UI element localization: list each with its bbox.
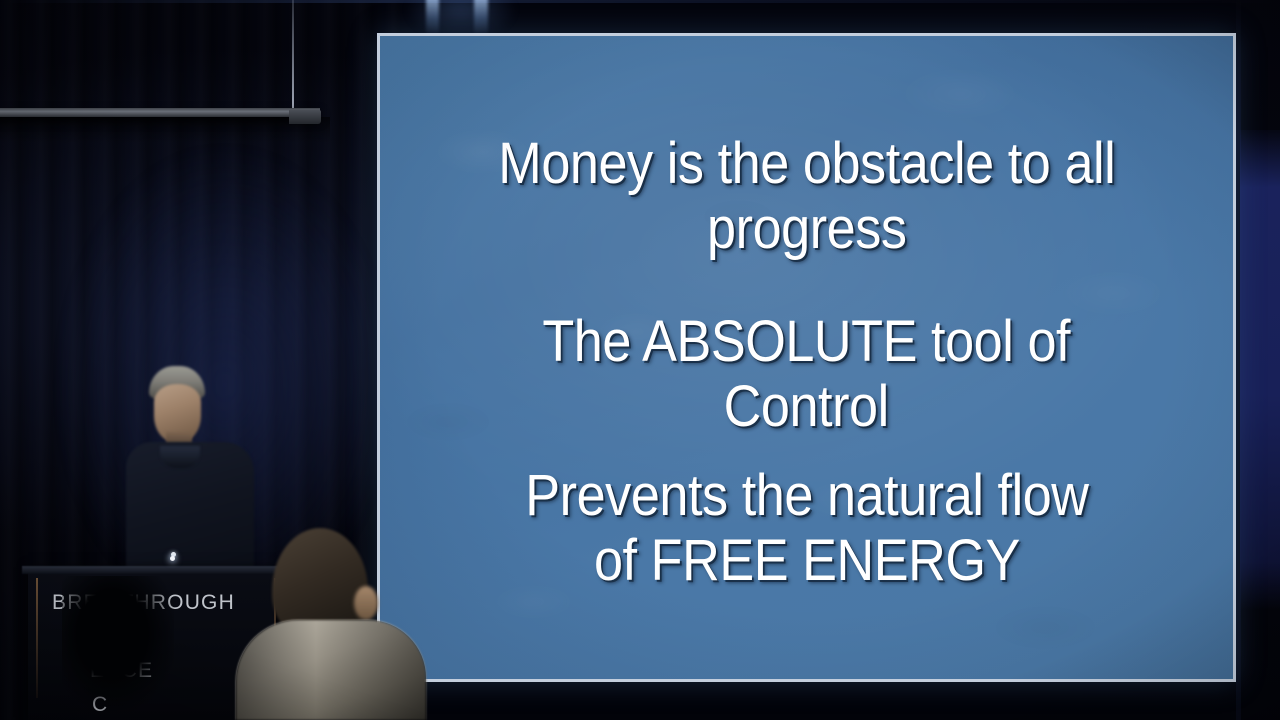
lectern-sign-rule-left bbox=[36, 578, 38, 698]
audience-member bbox=[236, 528, 426, 720]
right-curtain-panel bbox=[1240, 130, 1280, 610]
lighting-rig-bar-end bbox=[289, 110, 321, 124]
audience-shoulders-shading bbox=[236, 620, 426, 720]
lectern-indicator-light-icon bbox=[170, 556, 175, 561]
slide-line: Prevents the natural flow bbox=[525, 464, 1088, 529]
slide-line: Control bbox=[543, 375, 1071, 440]
slide-block-tool-of-control: The ABSOLUTE tool of Control bbox=[513, 310, 1099, 440]
slide-line: of FREE ENERGY bbox=[525, 529, 1088, 594]
slide-line: progress bbox=[498, 197, 1115, 262]
slide-block-statement: Money is the obstacle to all progress bbox=[464, 132, 1150, 262]
light-beam-icon bbox=[474, 0, 488, 36]
slide-line: Money is the obstacle to all bbox=[498, 132, 1115, 197]
slide-line: The ABSOLUTE tool of bbox=[543, 310, 1071, 375]
ceiling-light-strip bbox=[0, 0, 1280, 3]
lighting-rig-shadow bbox=[0, 117, 330, 143]
lighting-rig-bar bbox=[0, 108, 320, 117]
lighting-rig-cable bbox=[292, 0, 294, 112]
audience-ear bbox=[354, 586, 378, 620]
slide-content: Money is the obstacle to all progress Th… bbox=[380, 36, 1233, 679]
video-frame: Money is the obstacle to all progress Th… bbox=[0, 0, 1280, 720]
lectern-sign-occluder bbox=[62, 576, 174, 720]
slide-block-free-energy: Prevents the natural flow of FREE ENERGY bbox=[494, 464, 1120, 594]
light-beam-icon bbox=[426, 0, 439, 36]
projected-slide: Money is the obstacle to all progress Th… bbox=[377, 33, 1236, 682]
